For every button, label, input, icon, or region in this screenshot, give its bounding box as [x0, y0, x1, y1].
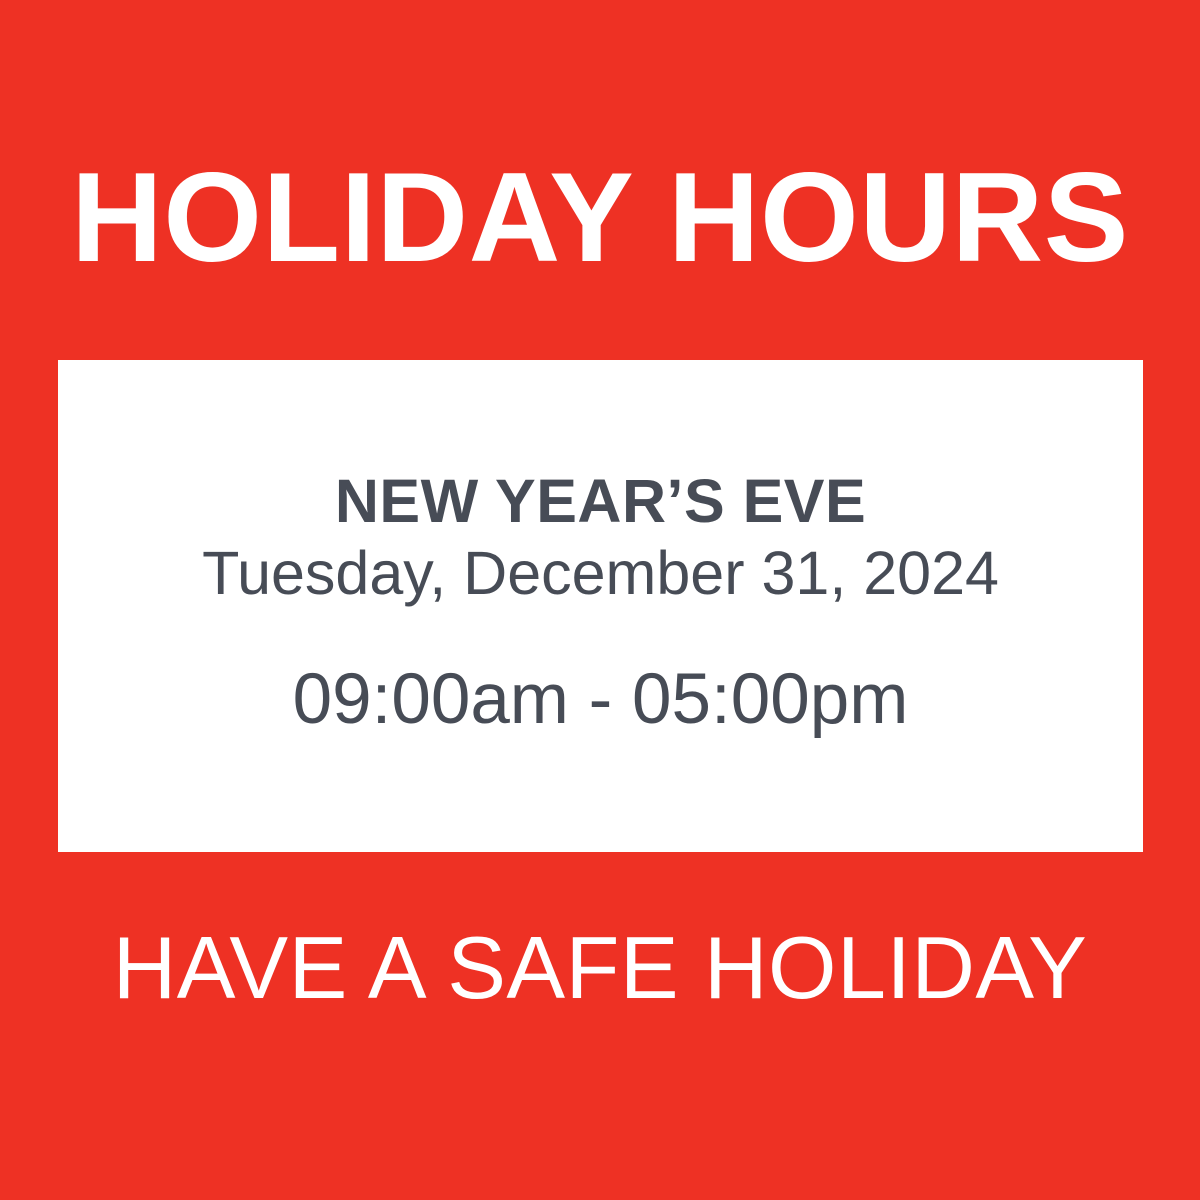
holiday-date-label: Tuesday, December 31, 2024 [58, 537, 1143, 609]
footer-message: HAVE A SAFE HOLIDAY [0, 920, 1200, 1016]
holiday-occasion-label: NEW YEAR’S EVE [58, 465, 1143, 537]
holiday-hours-label: 09:00am - 05:00pm [58, 659, 1143, 741]
holiday-info-card-content: NEW YEAR’S EVE Tuesday, December 31, 202… [58, 465, 1143, 741]
page-title: HOLIDAY HOURS [0, 151, 1200, 283]
holiday-info-card: NEW YEAR’S EVE Tuesday, December 31, 202… [58, 360, 1143, 852]
holiday-hours-poster: HOLIDAY HOURS NEW YEAR’S EVE Tuesday, De… [0, 0, 1200, 1200]
